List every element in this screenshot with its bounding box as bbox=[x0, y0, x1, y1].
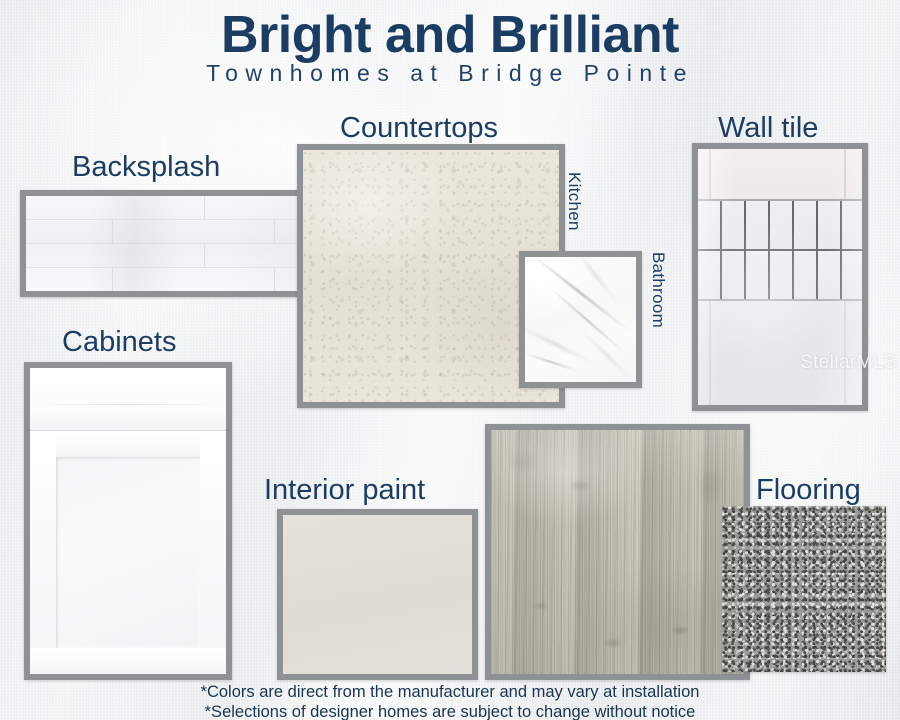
sample-wall-tile[interactable] bbox=[692, 143, 868, 411]
sample-cabinets[interactable] bbox=[24, 362, 232, 680]
label-wall-tile: Wall tile bbox=[718, 114, 818, 143]
page-title: Bright and Brilliant bbox=[0, 8, 900, 63]
disclaimer-line-1: *Colors are direct from the manufacturer… bbox=[0, 682, 900, 704]
sample-flooring-plank[interactable] bbox=[485, 424, 750, 680]
paint-color-chip bbox=[283, 515, 472, 674]
carpet-fiber-texture bbox=[722, 506, 886, 672]
page-subtitle: Townhomes at Bridge Pointe bbox=[0, 60, 900, 87]
label-countertops: Countertops bbox=[340, 114, 498, 143]
sample-countertop-bathroom[interactable] bbox=[519, 251, 642, 388]
disclaimer-line-2: *Selections of designer homes are subjec… bbox=[0, 702, 900, 720]
label-cabinets: Cabinets bbox=[62, 328, 176, 357]
sample-flooring-carpet[interactable] bbox=[722, 506, 886, 672]
wall-tile-field bbox=[698, 149, 862, 405]
marble-veining bbox=[525, 257, 636, 382]
label-backsplash: Backsplash bbox=[72, 153, 220, 182]
sample-backsplash[interactable] bbox=[20, 190, 316, 297]
sample-interior-paint[interactable] bbox=[277, 509, 478, 680]
label-flooring: Flooring bbox=[756, 476, 861, 505]
label-bathroom: Bathroom bbox=[650, 252, 667, 328]
label-interior-paint: Interior paint bbox=[264, 476, 425, 505]
design-board: Bright and Brilliant Townhomes at Bridge… bbox=[0, 0, 900, 720]
wood-plank-texture bbox=[491, 430, 744, 674]
label-kitchen: Kitchen bbox=[566, 172, 583, 231]
backsplash-tile-field bbox=[26, 196, 310, 291]
cabinet-face bbox=[30, 368, 226, 674]
